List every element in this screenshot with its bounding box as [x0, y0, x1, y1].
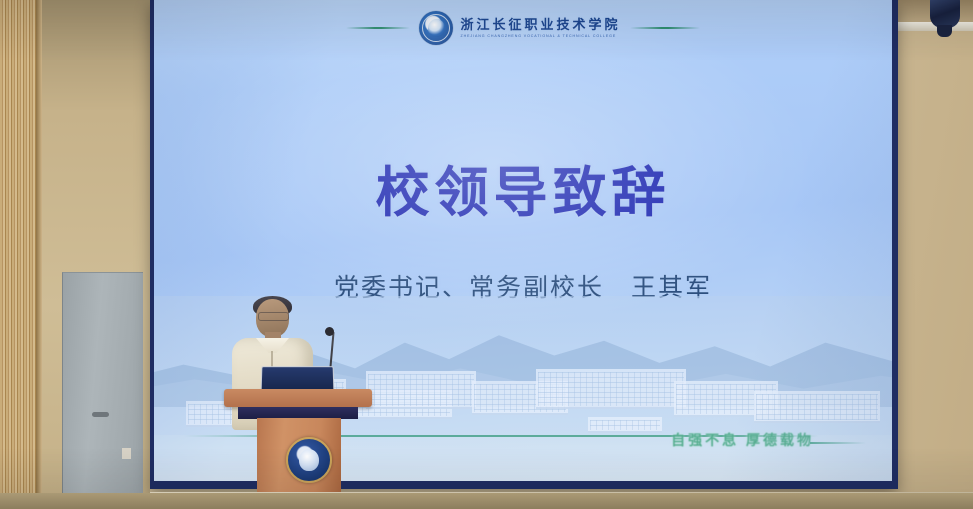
university-name-cn: 浙江长征职业技术学院: [460, 18, 620, 32]
door-switch-plate[interactable]: [122, 448, 131, 459]
university-name-block: 浙江长征职业技术学院 ZHEJIANG CHANGZHENG VOCATIONA…: [460, 18, 620, 38]
header-rule-left: [346, 27, 410, 29]
lectern: [224, 389, 372, 509]
stage-floor: [0, 493, 973, 509]
header-rule-right: [630, 27, 700, 29]
campus-building: [754, 391, 880, 423]
side-door[interactable]: [62, 272, 143, 509]
door-handle-icon[interactable]: [92, 412, 109, 417]
campus-building: [536, 369, 686, 409]
slide-title: 校领导致辞: [154, 148, 892, 227]
campus-building: [366, 371, 476, 409]
microphone-head-icon: [325, 327, 334, 336]
university-emblem-icon: [286, 437, 332, 483]
speaker-glasses-icon: [258, 312, 289, 321]
university-seal-icon: [419, 11, 453, 45]
slide-header: 浙江长征职业技术学院 ZHEJIANG CHANGZHENG VOCATIONA…: [154, 6, 892, 50]
university-branding: 浙江长征职业技术学院 ZHEJIANG CHANGZHENG VOCATIONA…: [419, 11, 620, 45]
seal-core: [428, 19, 445, 37]
wood-slat-wall-panel: [0, 0, 36, 509]
conference-hall-photo: 浙江长征职业技术学院 ZHEJIANG CHANGZHENG VOCATIONA…: [0, 0, 973, 509]
lectern-desktop: [224, 389, 372, 407]
campus-plaza-building: [588, 417, 662, 433]
campus-motto: 自强不息 厚德载物: [671, 430, 814, 450]
stage-spotlight: [930, 0, 960, 28]
university-name-en: ZHEJIANG CHANGZHENG VOCATIONAL & TECHNIC…: [460, 34, 620, 38]
motto-rule: [810, 442, 866, 444]
